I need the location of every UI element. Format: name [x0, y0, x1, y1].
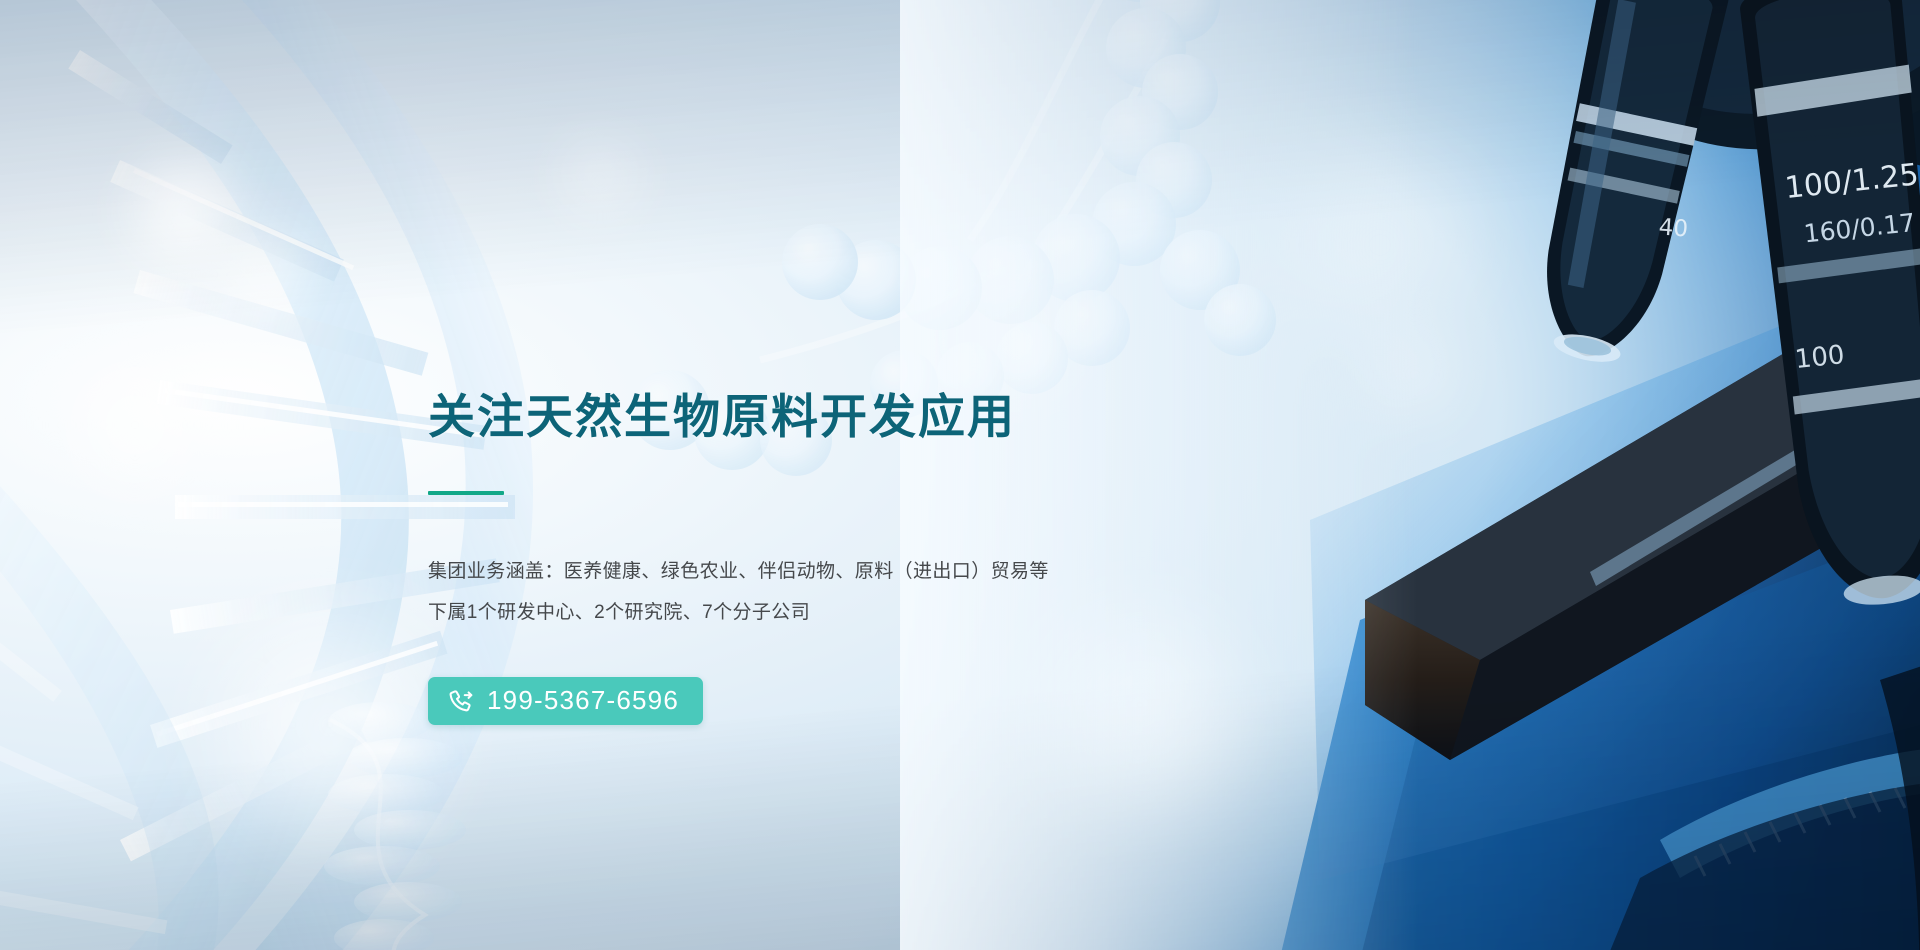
hero-content: 关注天然生物原料开发应用 集团业务涵盖：医养健康、绿色农业、伴侣动物、原料（进出…	[428, 392, 1208, 725]
phone-forwarded-icon	[448, 688, 474, 714]
page-title: 关注天然生物原料开发应用	[428, 392, 1208, 443]
phone-number-label: 199-5367-6596	[487, 685, 679, 716]
hero-description: 集团业务涵盖：医养健康、绿色农业、伴侣动物、原料（进出口）贸易等 下属1个研发中…	[428, 551, 1208, 633]
description-line-2: 下属1个研发中心、2个研究院、7个分子公司	[428, 592, 1208, 633]
hero-banner: 40 100/1.25 160/0.17 100	[0, 0, 1920, 950]
description-line-1: 集团业务涵盖：医养健康、绿色农业、伴侣动物、原料（进出口）贸易等	[428, 551, 1208, 592]
phone-cta-button[interactable]: 199-5367-6596	[428, 677, 703, 725]
accent-divider	[428, 491, 504, 495]
